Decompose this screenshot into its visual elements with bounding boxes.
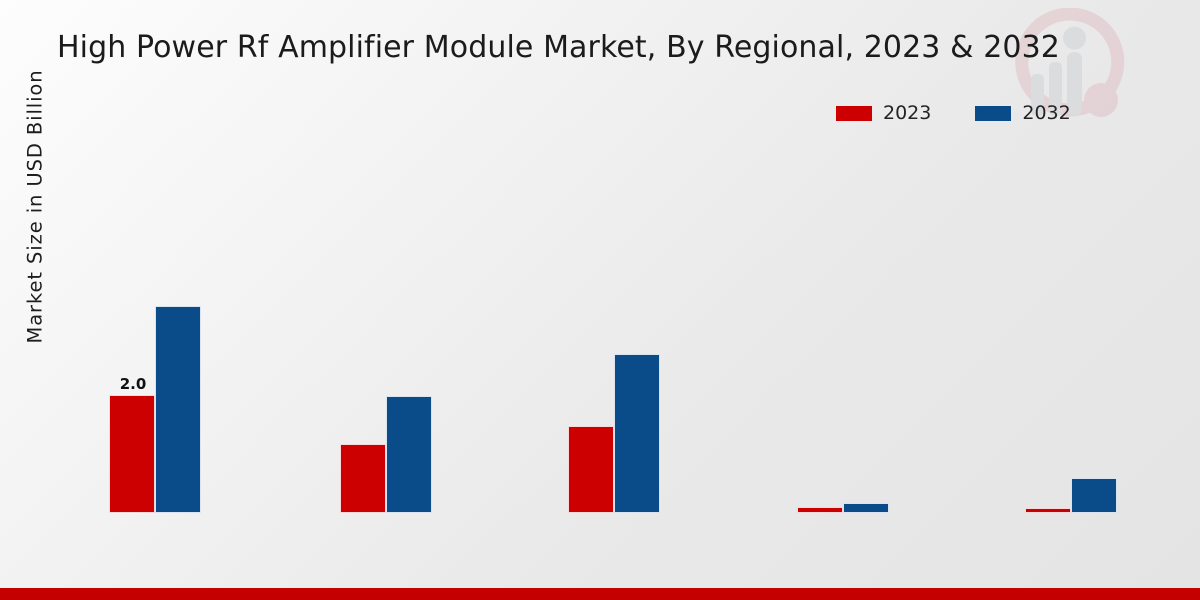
- legend-swatch-2023: [836, 106, 872, 121]
- bar-value-north-america-2023: 2.0: [110, 375, 156, 393]
- bar-group-north-america: 2.0: [109, 150, 201, 513]
- bar-north-america-2032[interactable]: [155, 306, 201, 513]
- footer-accent-strip: [0, 588, 1200, 600]
- legend-label-2032: 2032: [1022, 104, 1070, 123]
- bar-europe-2023[interactable]: [340, 444, 386, 513]
- bar-group-europe: [340, 150, 432, 513]
- legend-item-2023[interactable]: 2023: [836, 104, 931, 123]
- chart-legend: 2023 2032: [836, 104, 1071, 123]
- bar-mea-2032[interactable]: [1071, 478, 1117, 513]
- bar-group-south-america: [797, 150, 889, 513]
- bar-europe-2032[interactable]: [386, 396, 432, 513]
- bar-south-america-2032[interactable]: [843, 503, 889, 513]
- bar-mea-2023[interactable]: [1025, 508, 1071, 513]
- legend-swatch-2032: [975, 106, 1011, 121]
- legend-item-2032[interactable]: 2032: [975, 104, 1070, 123]
- chart-title: High Power Rf Amplifier Module Market, B…: [57, 30, 1060, 65]
- bar-south-america-2023[interactable]: [797, 507, 843, 513]
- chart-container: High Power Rf Amplifier Module Market, B…: [0, 0, 1200, 600]
- legend-label-2023: 2023: [883, 104, 931, 123]
- bar-north-america-2023[interactable]: 2.0: [109, 395, 155, 513]
- bar-group-mea: [1025, 150, 1117, 513]
- bar-apac-2032[interactable]: [614, 354, 660, 513]
- bar-apac-2023[interactable]: [568, 426, 614, 513]
- bar-group-apac: [568, 150, 660, 513]
- plot-area: 2.0 NORTH AMERICA EUROPE APAC: [40, 150, 1185, 513]
